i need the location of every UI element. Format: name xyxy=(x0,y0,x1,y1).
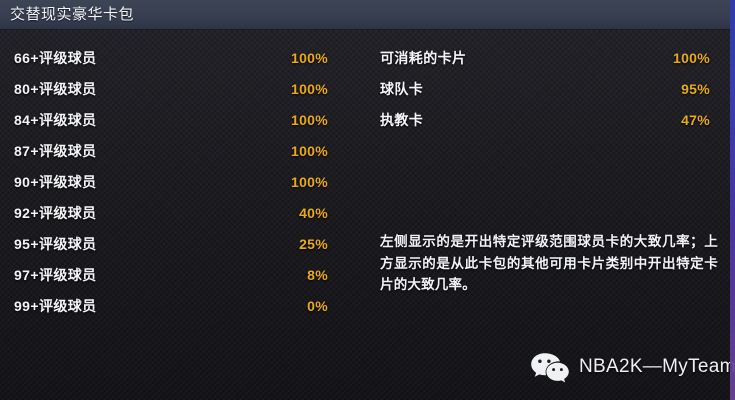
odds-row: 66+评级球员 100% xyxy=(0,42,360,73)
card-type-odds-list: 可消耗的卡片 100% 球队卡 95% 执教卡 47% xyxy=(368,42,724,135)
odds-row-label: 99+评级球员 xyxy=(14,296,97,316)
odds-row-value: 25% xyxy=(299,236,328,252)
wechat-icon xyxy=(530,351,570,383)
odds-row: 球队卡 95% xyxy=(368,73,724,104)
odds-row: 84+评级球员 100% xyxy=(0,104,360,135)
odds-row: 执教卡 47% xyxy=(368,104,724,135)
odds-row-value: 8% xyxy=(307,267,328,283)
odds-row-label: 95+评级球员 xyxy=(14,234,97,254)
odds-row-label: 66+评级球员 xyxy=(14,48,97,68)
odds-row-label: 球队卡 xyxy=(380,79,423,99)
odds-row: 95+评级球员 25% xyxy=(0,228,360,259)
odds-row-label: 84+评级球员 xyxy=(14,110,97,130)
odds-row: 87+评级球员 100% xyxy=(0,135,360,166)
odds-row-value: 100% xyxy=(291,143,328,159)
odds-row-label: 87+评级球员 xyxy=(14,141,97,161)
odds-row-label: 90+评级球员 xyxy=(14,172,97,192)
odds-row-value: 100% xyxy=(291,174,328,190)
odds-row-value: 95% xyxy=(681,81,710,97)
right-edge-strip xyxy=(730,0,735,400)
odds-row-label: 执教卡 xyxy=(380,110,423,130)
odds-row-label: 92+评级球员 xyxy=(14,203,97,223)
odds-row: 可消耗的卡片 100% xyxy=(368,42,724,73)
odds-row-label: 80+评级球员 xyxy=(14,79,97,99)
odds-row-value: 100% xyxy=(291,112,328,128)
odds-description-text: 左侧显示的是开出特定评级范围球员卡的大致几率；上方显示的是从此卡包的其他可用卡片… xyxy=(380,231,718,296)
odds-row-value: 40% xyxy=(299,205,328,221)
odds-row-label: 可消耗的卡片 xyxy=(380,48,466,68)
watermark-label: NBA2K—MyTeam xyxy=(579,355,735,379)
header-bar: 交替现实豪华卡包 xyxy=(0,0,735,30)
pack-odds-screen: 交替现实豪华卡包 66+评级球员 100% 80+评级球员 100% 84+评级… xyxy=(0,0,735,400)
page-title: 交替现实豪华卡包 xyxy=(10,4,134,25)
player-rating-odds-list: 66+评级球员 100% 80+评级球员 100% 84+评级球员 100% 8… xyxy=(0,42,360,321)
odds-row: 97+评级球员 8% xyxy=(0,259,360,290)
watermark: NBA2K—MyTeam xyxy=(530,350,735,384)
odds-row: 99+评级球员 0% xyxy=(0,290,360,321)
odds-row-value: 100% xyxy=(291,81,328,97)
odds-row-value: 47% xyxy=(681,112,710,128)
odds-row-value: 0% xyxy=(307,298,328,314)
odds-row-label: 97+评级球员 xyxy=(14,265,97,285)
odds-row: 80+评级球员 100% xyxy=(0,73,360,104)
odds-row: 92+评级球员 40% xyxy=(0,197,360,228)
odds-row: 90+评级球员 100% xyxy=(0,166,360,197)
odds-row-value: 100% xyxy=(291,50,328,66)
odds-row-value: 100% xyxy=(673,50,710,66)
